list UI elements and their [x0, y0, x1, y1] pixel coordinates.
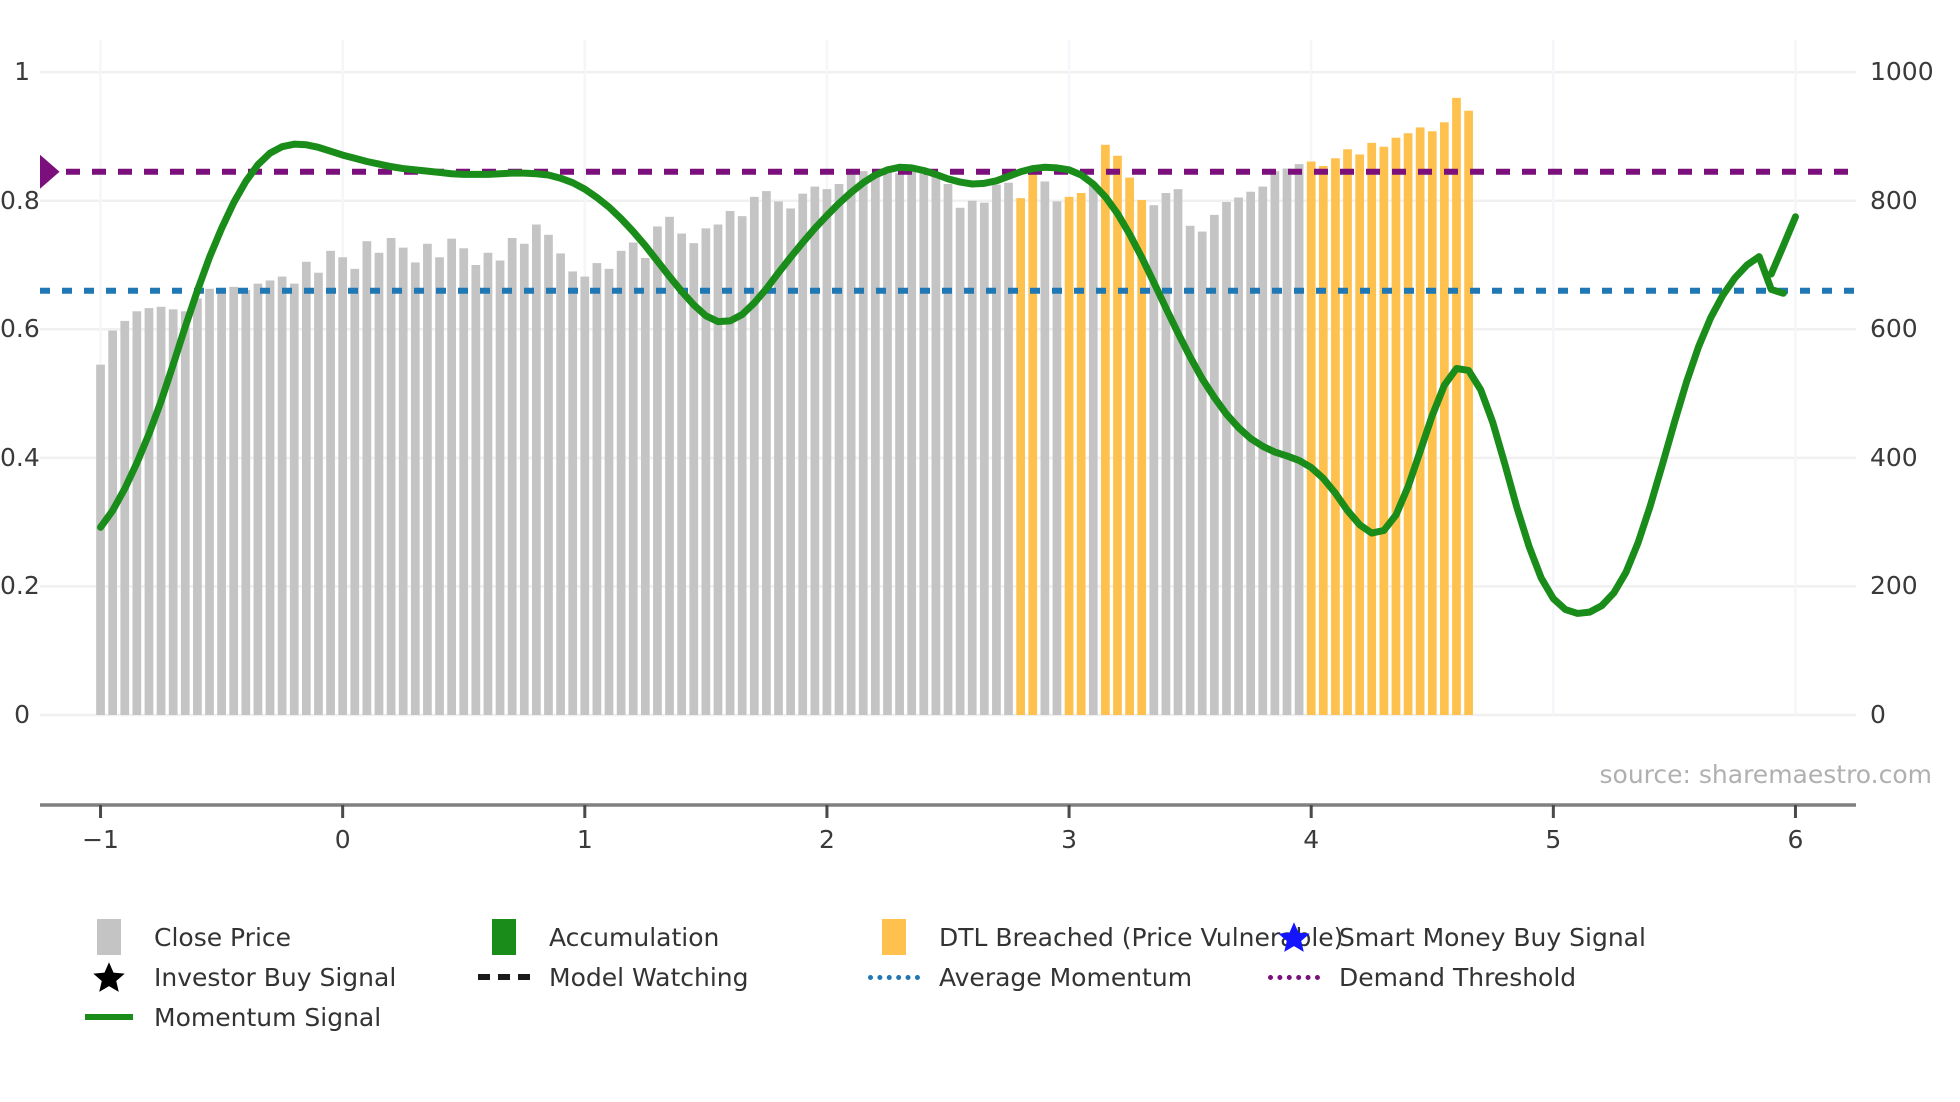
bar-close-price [847, 172, 856, 715]
bar-close-price [145, 308, 154, 715]
bar-dtl-breached [1028, 171, 1037, 716]
y-axis-right-tick-label: 400 [1870, 445, 1918, 470]
model-watching-dashed-line-icon [478, 974, 530, 980]
bar-close-price [1222, 202, 1231, 715]
bar-close-price [617, 251, 626, 715]
bar-close-price [447, 239, 456, 715]
bar-close-price [992, 185, 1001, 715]
bar-close-price [411, 262, 420, 715]
bar-close-price [302, 262, 311, 715]
bar-close-price [726, 211, 735, 715]
bar-close-price [580, 277, 589, 715]
bar-close-price [653, 226, 662, 715]
y-axis-left-tick-label: 0.2 [0, 573, 30, 598]
bar-close-price [1089, 185, 1098, 715]
bar-close-price [665, 217, 674, 715]
momentum-signal-line-icon [85, 1014, 133, 1020]
bar-dtl-breached [1077, 193, 1086, 715]
legend-label-investor-buy-signal: Investor Buy Signal [154, 965, 396, 990]
bar-dtl-breached [1137, 200, 1146, 715]
chart-root: { "source_note": "source: sharemaestro.c… [0, 0, 1960, 1102]
bar-close-price [1040, 181, 1049, 715]
bar-close-price [326, 251, 335, 715]
close-price-key [78, 919, 140, 955]
x-axis-tick-label: 3 [1029, 827, 1109, 852]
y-axis-left-tick-label: 0.6 [0, 316, 30, 341]
bar-dtl-breached [1379, 147, 1388, 715]
bar-close-price [278, 277, 287, 715]
bar-close-price [919, 170, 928, 715]
bar-close-price [907, 165, 916, 715]
investor-buy-signal-key [78, 960, 140, 994]
legend-item-momentum-signal[interactable]: Momentum Signal [78, 1005, 473, 1030]
legend-label-smart-money-buy-signal: Smart Money Buy Signal [1339, 925, 1646, 950]
bar-close-price [520, 244, 529, 715]
bar-dtl-breached [1307, 162, 1316, 716]
bar-dtl-breached [1125, 178, 1134, 715]
x-axis-tick-label: 5 [1513, 827, 1593, 852]
x-axis-tick-label: 4 [1271, 827, 1351, 852]
bar-close-price [363, 241, 372, 715]
bar-close-price [689, 243, 698, 715]
legend-row: Momentum Signal [78, 998, 1938, 1036]
dtl-breached-key [863, 919, 925, 955]
bar-close-price [762, 191, 771, 715]
bar-close-price [435, 257, 444, 715]
y-axis-right-tick-label: 1000 [1870, 59, 1934, 84]
x-axis-tick-label: 0 [303, 827, 383, 852]
bar-close-price [1174, 189, 1183, 715]
demand-threshold-start-marker [40, 155, 60, 189]
legend-item-model-watching[interactable]: Model Watching [473, 965, 863, 990]
y-axis-left-tick-label: 1 [0, 59, 30, 84]
y-axis-right-tick-label: 800 [1870, 188, 1918, 213]
bar-close-price [823, 189, 832, 715]
bar-close-price [932, 174, 941, 715]
bar-close-price [387, 238, 396, 715]
bar-close-price [956, 208, 965, 715]
bar-dtl-breached [1367, 143, 1376, 715]
bar-close-price [314, 273, 323, 715]
bar-dtl-breached [1392, 138, 1401, 715]
bar-close-price [677, 234, 686, 716]
bar-dtl-breached [1343, 149, 1352, 715]
bar-dtl-breached [1355, 154, 1364, 715]
bar-close-price [544, 235, 553, 715]
bar-close-price [556, 253, 565, 715]
bar-close-price [108, 331, 117, 715]
bar-close-price [241, 290, 250, 715]
line-momentum-signal-tail [1771, 217, 1795, 274]
legend-item-close-price[interactable]: Close Price [78, 919, 473, 955]
bar-dtl-breached [1331, 158, 1340, 715]
chart-legend: Close PriceAccumulationDTL Breached (Pri… [78, 918, 1938, 1038]
plot-area [40, 40, 1856, 825]
momentum-signal-key [78, 1014, 140, 1020]
bar-close-price [702, 228, 711, 715]
average-momentum-key [863, 975, 925, 980]
bar-close-price [471, 265, 480, 715]
bar-dtl-breached [1464, 111, 1473, 715]
bar-dtl-breached [1065, 197, 1074, 715]
bar-close-price [568, 271, 577, 715]
accumulation-swatch-icon [492, 919, 516, 955]
bar-close-price [193, 298, 202, 715]
legend-label-close-price: Close Price [154, 925, 291, 950]
bar-close-price [1198, 232, 1207, 715]
dtl-breached-swatch-icon [882, 919, 906, 955]
bar-close-price [786, 208, 795, 715]
legend-item-average-momentum[interactable]: Average Momentum [863, 965, 1263, 990]
y-axis-left-tick-label: 0.4 [0, 445, 30, 470]
bar-close-price [181, 311, 190, 715]
legend-label-accumulation: Accumulation [549, 925, 719, 950]
bar-close-price [496, 261, 505, 716]
bar-series-close-price [96, 98, 1473, 715]
bar-close-price [459, 248, 468, 715]
bar-dtl-breached [1319, 166, 1328, 715]
source-note: source: sharemaestro.com [1600, 760, 1933, 789]
bar-dtl-breached [1440, 122, 1449, 715]
y-axis-left-tick-label: 0.8 [0, 188, 30, 213]
legend-item-dtl-breached[interactable]: DTL Breached (Price Vulnerable) [863, 919, 1263, 955]
accumulation-key [473, 919, 535, 955]
bar-dtl-breached [1016, 198, 1025, 715]
bar-close-price [338, 257, 347, 715]
bar-close-price [798, 194, 807, 715]
legend-item-investor-buy-signal[interactable]: Investor Buy Signal [78, 960, 473, 994]
bar-close-price [835, 184, 844, 715]
bar-close-price [1004, 183, 1013, 715]
x-axis-tick-label: −1 [61, 827, 141, 852]
bar-close-price [157, 307, 166, 715]
legend-label-model-watching: Model Watching [549, 965, 749, 990]
bar-close-price [120, 321, 129, 715]
y-axis-right-tick-label: 0 [1870, 702, 1886, 727]
bar-close-price [217, 291, 226, 715]
bar-dtl-breached [1113, 156, 1122, 715]
bar-dtl-breached [1404, 133, 1413, 715]
bar-close-price [532, 225, 541, 716]
bar-close-price [290, 284, 299, 715]
bar-close-price [641, 258, 650, 715]
close-price-swatch-icon [97, 919, 121, 955]
bar-close-price [508, 238, 517, 715]
bar-close-price [399, 248, 408, 715]
x-axis-tick-label: 2 [787, 827, 867, 852]
bar-close-price [96, 365, 105, 715]
bar-close-price [375, 253, 384, 715]
bar-close-price [944, 184, 953, 715]
bar-close-price [1053, 201, 1062, 715]
bar-dtl-breached [1101, 145, 1110, 715]
legend-row: Close PriceAccumulationDTL Breached (Pri… [78, 918, 1938, 956]
bar-close-price [1283, 169, 1292, 715]
bar-close-price [266, 280, 275, 715]
x-axis-tick-label: 6 [1755, 827, 1835, 852]
bar-close-price [605, 269, 614, 715]
bar-close-price [1162, 193, 1171, 715]
legend-item-demand-threshold[interactable]: Demand Threshold [1263, 965, 1663, 990]
bar-close-price [714, 225, 723, 716]
bar-close-price [423, 244, 432, 715]
bar-close-price [484, 253, 493, 715]
bar-close-price [132, 311, 141, 715]
investor-buy-signal-star-icon [92, 960, 126, 994]
bar-dtl-breached [1416, 127, 1425, 715]
bar-close-price [254, 284, 263, 715]
demand-threshold-dotted-line-icon [1268, 975, 1320, 980]
bar-close-price [350, 269, 359, 715]
bar-close-price [629, 243, 638, 716]
bar-close-price [810, 187, 819, 715]
legend-row: Investor Buy SignalModel WatchingAverage… [78, 958, 1938, 996]
demand-threshold-key [1263, 975, 1325, 980]
y-axis-right-tick-label: 200 [1870, 573, 1918, 598]
legend-label-demand-threshold: Demand Threshold [1339, 965, 1576, 990]
model-watching-key [473, 974, 535, 980]
smart-money-buy-signal-key [1263, 920, 1325, 954]
legend-item-accumulation[interactable]: Accumulation [473, 919, 863, 955]
y-axis-right-tick-label: 600 [1870, 316, 1918, 341]
bar-close-price [593, 263, 602, 715]
legend-item-smart-money-buy-signal[interactable]: Smart Money Buy Signal [1263, 920, 1663, 954]
bar-close-price [883, 171, 892, 715]
chart-canvas [40, 40, 1856, 825]
bar-close-price [1246, 192, 1255, 715]
bar-close-price [968, 201, 977, 715]
average-momentum-dotted-line-icon [868, 975, 920, 980]
bar-close-price [1295, 164, 1304, 715]
bar-close-price [1234, 198, 1243, 716]
bar-close-price [1271, 171, 1280, 715]
bar-close-price [980, 203, 989, 715]
bar-close-price [229, 287, 238, 715]
bar-close-price [750, 197, 759, 715]
bar-close-price [871, 174, 880, 715]
bar-close-price [205, 289, 214, 715]
x-axis-tick-label: 1 [545, 827, 625, 852]
bar-dtl-breached [1452, 98, 1461, 715]
bar-close-price [1186, 226, 1195, 715]
legend-label-momentum-signal: Momentum Signal [154, 1005, 381, 1030]
smart-money-buy-signal-star-icon [1277, 920, 1311, 954]
bar-close-price [895, 173, 904, 715]
bar-close-price [859, 171, 868, 715]
y-axis-left-tick-label: 0 [0, 702, 30, 727]
legend-label-average-momentum: Average Momentum [939, 965, 1192, 990]
